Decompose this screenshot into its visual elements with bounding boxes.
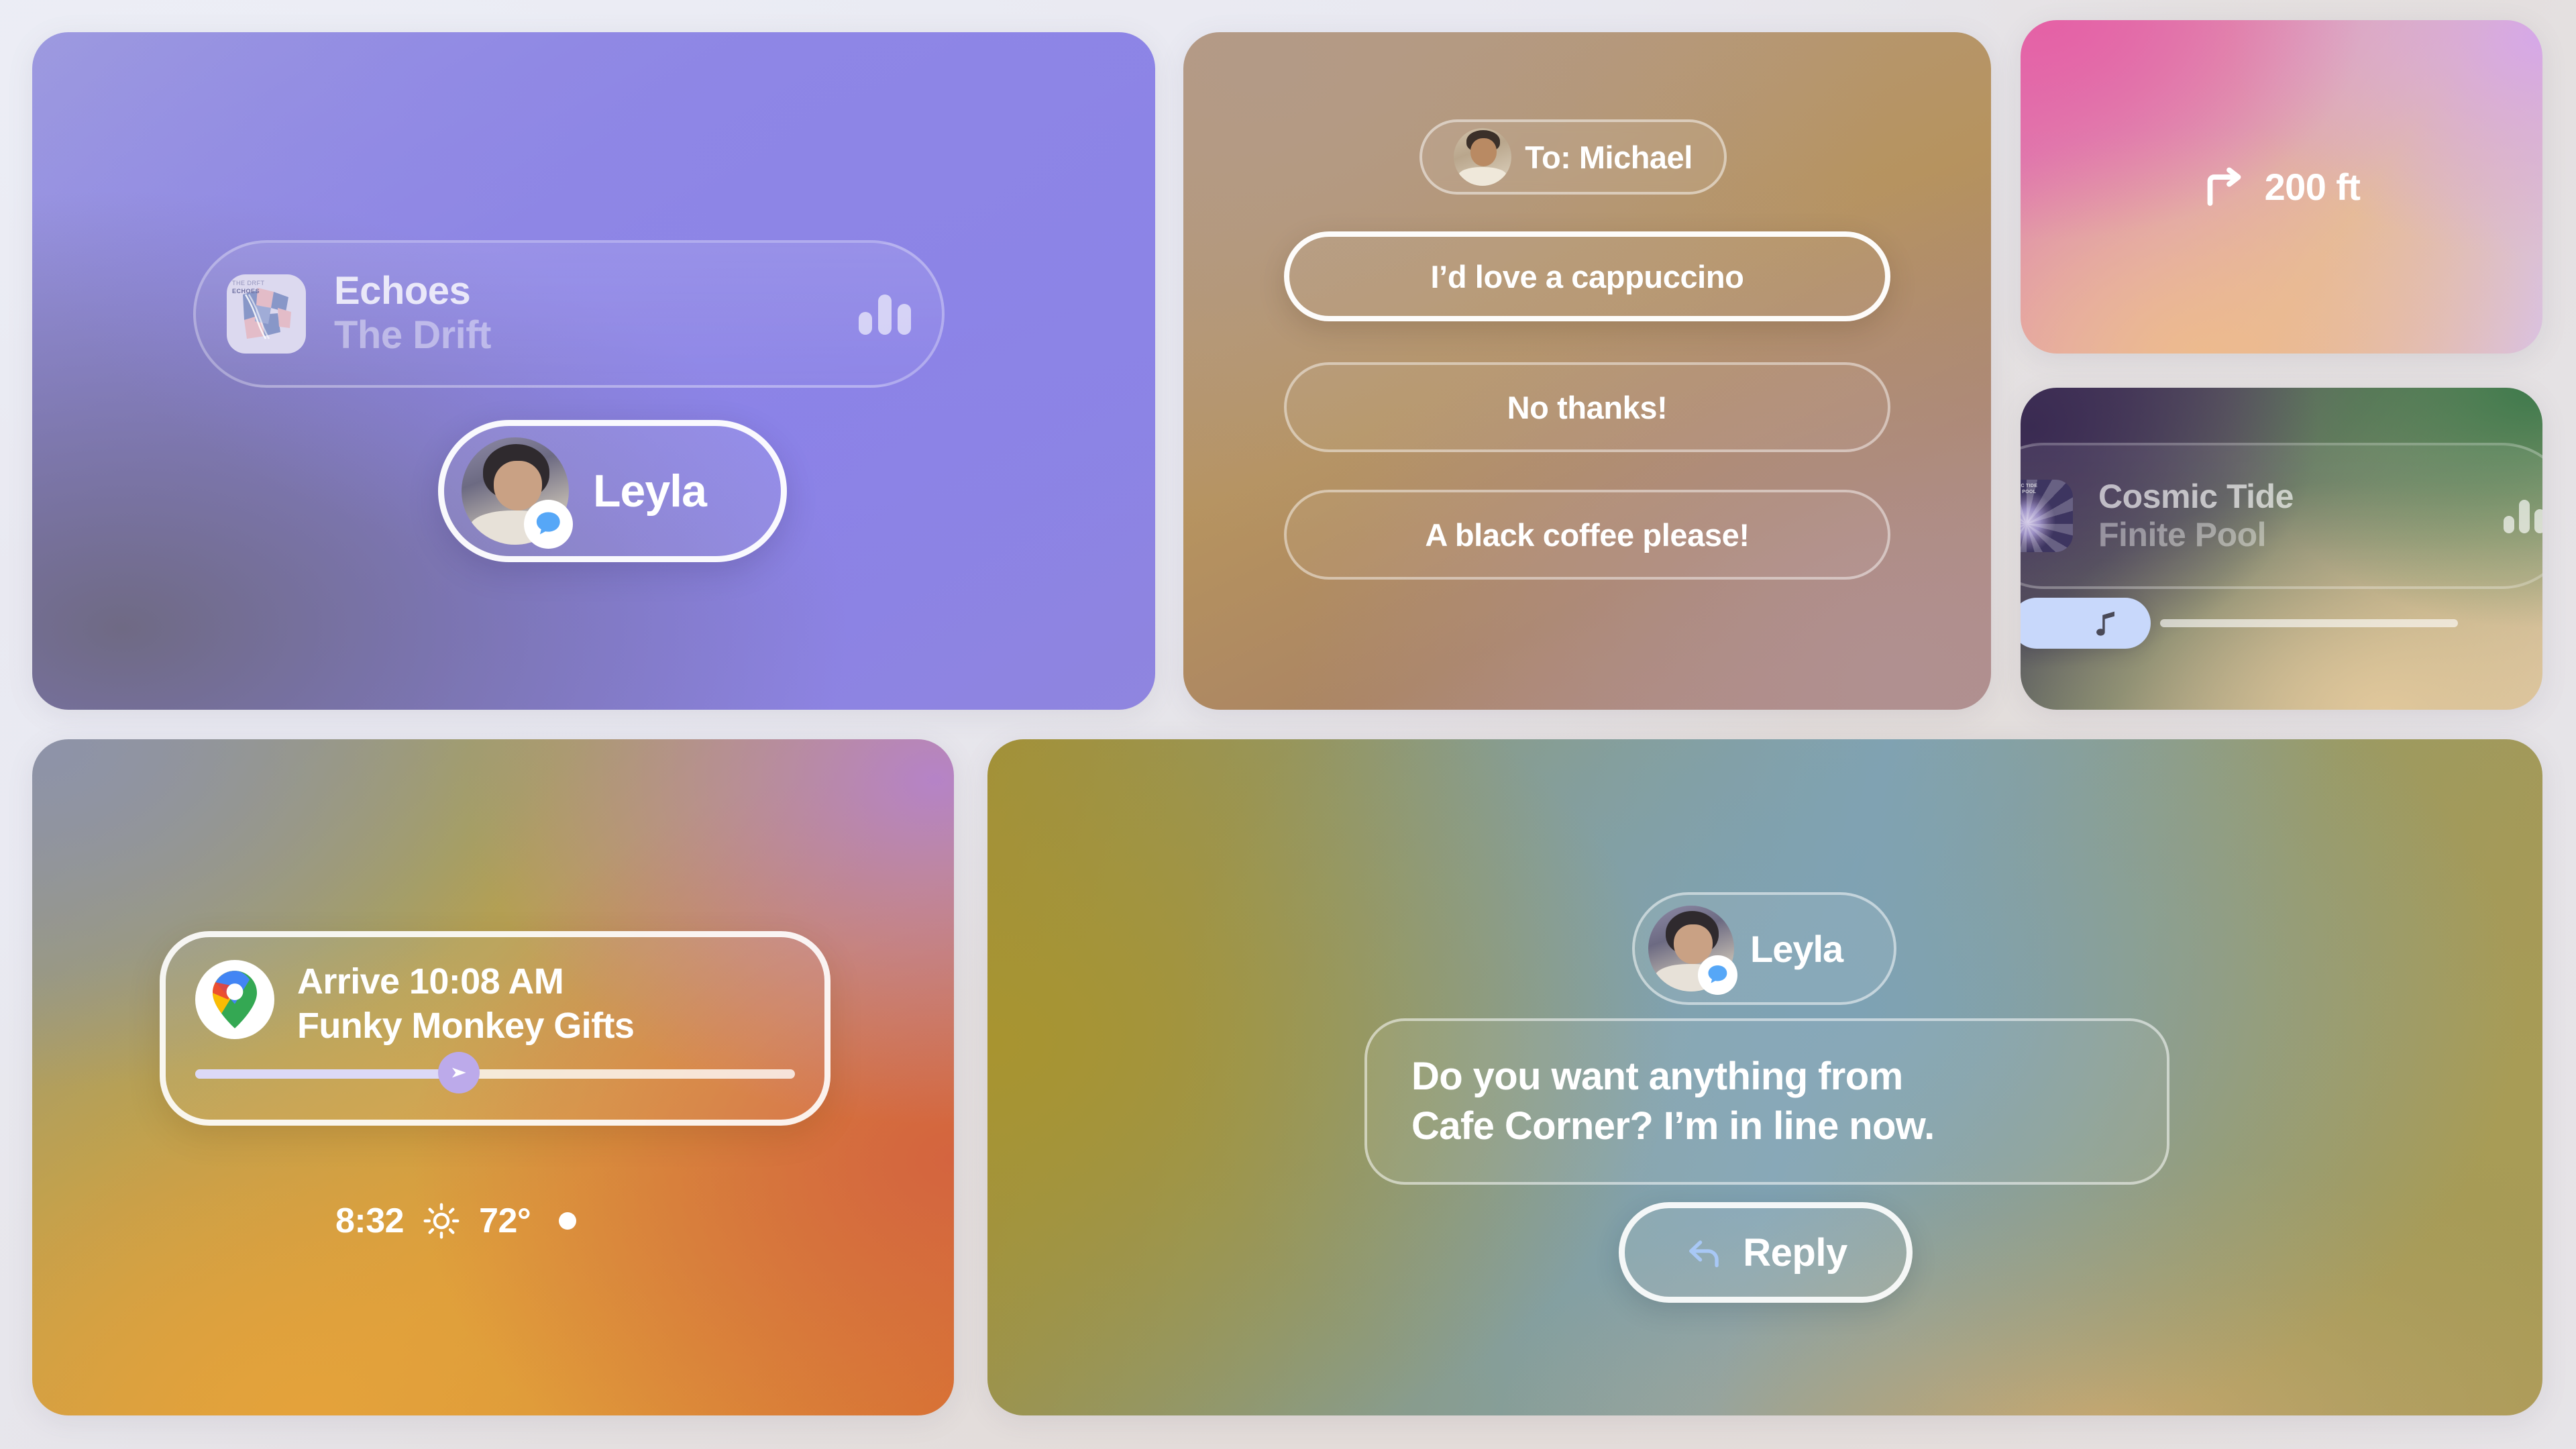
suggestion-option-2[interactable]: A black coffee please! <box>1284 490 1890 580</box>
reply-button[interactable]: Reply <box>1619 1202 1913 1303</box>
avatar <box>1648 906 1734 991</box>
card-music-with-contact[interactable]: THE DRFT ECHOES <box>32 32 1155 710</box>
equalizer-bars-icon <box>859 293 911 335</box>
scrubber-thumb[interactable] <box>2021 598 2151 649</box>
widget-gallery: THE DRFT ECHOES <box>0 0 2576 1449</box>
maps-pin-glyph <box>213 971 257 1028</box>
card-music-cosmic-tide[interactable]: COSMIC TIDE FINITE POOL Cosmic Tide Fini… <box>2021 388 2542 710</box>
equalizer-bars-icon <box>2504 498 2542 533</box>
recipient-label: To: Michael <box>1525 139 1693 176</box>
message-line-2: Cafe Corner? I’m in line now. <box>1411 1102 1935 1151</box>
message-line-1: Do you want anything from <box>1411 1052 1935 1102</box>
eta-time: Arrive 10:08 AM <box>297 961 634 1002</box>
reply-label: Reply <box>1743 1230 1847 1275</box>
message-sender-name: Leyla <box>1750 927 1843 971</box>
album-art-cosmic-tide: COSMIC TIDE FINITE POOL <box>2021 480 2073 552</box>
suggestion-label: I’d love a cappuccino <box>1431 258 1744 295</box>
navigation-arrow-icon <box>448 1062 470 1083</box>
scrubber-track[interactable] <box>2160 619 2458 627</box>
speech-bubble-icon <box>532 508 565 541</box>
message-bubble[interactable]: Do you want anything from Cafe Corner? I… <box>1364 1018 2169 1185</box>
maneuver-row: 200 ft <box>2021 20 2542 354</box>
avatar <box>462 437 569 545</box>
google-maps-pin-icon <box>195 960 274 1039</box>
messages-app-badge-icon <box>1698 955 1737 995</box>
recording-dot-icon <box>559 1212 576 1230</box>
progress-thumb[interactable] <box>438 1052 480 1093</box>
messages-app-badge-icon <box>524 500 574 549</box>
recipient-pill[interactable]: To: Michael <box>1419 119 1727 195</box>
cosmic-scrubber[interactable] <box>2021 602 2521 644</box>
message-sender-pill[interactable]: Leyla <box>1632 892 1896 1005</box>
eta-widget[interactable]: Arrive 10:08 AM Funky Monkey Gifts <box>160 931 830 1126</box>
album-art-label: COSMIC TIDE FINITE POOL <box>2021 483 2037 495</box>
michael-avatar <box>1454 128 1511 186</box>
eta-destination: Funky Monkey Gifts <box>297 1006 634 1046</box>
turn-right-icon <box>2203 167 2247 207</box>
track-title: Cosmic Tide <box>2098 478 2294 515</box>
sun-icon <box>423 1202 460 1240</box>
track-artist: The Drift <box>334 314 491 358</box>
contact-name: Leyla <box>593 465 706 517</box>
now-playing-text: Echoes The Drift <box>334 270 491 358</box>
track-title: Echoes <box>334 270 491 311</box>
maneuver-distance: 200 ft <box>2265 165 2361 209</box>
cosmic-now-playing-widget[interactable]: COSMIC TIDE FINITE POOL Cosmic Tide Fini… <box>2021 443 2542 589</box>
music-note-icon <box>2090 606 2125 641</box>
status-row: 8:32 72° <box>335 1201 576 1241</box>
speech-bubble-icon <box>1705 962 1731 988</box>
status-temperature: 72° <box>479 1201 531 1241</box>
progress-fill <box>195 1069 459 1079</box>
suggestion-label: A black coffee please! <box>1425 517 1749 553</box>
suggestion-label: No thanks! <box>1507 389 1668 426</box>
album-art-label: THE DRFT ECHOES <box>232 279 265 295</box>
reply-arrow-icon <box>1684 1232 1725 1273</box>
suggestion-option-1[interactable]: No thanks! <box>1284 362 1890 452</box>
eta-text: Arrive 10:08 AM Funky Monkey Gifts <box>297 960 634 1046</box>
track-artist: Finite Pool <box>2098 516 2294 553</box>
route-progress-bar[interactable] <box>195 1064 795 1080</box>
suggestion-option-0[interactable]: I’d love a cappuccino <box>1284 231 1890 321</box>
status-time: 8:32 <box>335 1201 404 1241</box>
album-art-echoes: THE DRFT ECHOES <box>227 274 306 354</box>
cosmic-text: Cosmic Tide Finite Pool <box>2098 478 2294 553</box>
now-playing-widget[interactable]: THE DRFT ECHOES <box>193 240 945 388</box>
message-body: Do you want anything from Cafe Corner? I… <box>1411 1052 1935 1151</box>
contact-pill-leyla[interactable]: Leyla <box>438 420 787 562</box>
